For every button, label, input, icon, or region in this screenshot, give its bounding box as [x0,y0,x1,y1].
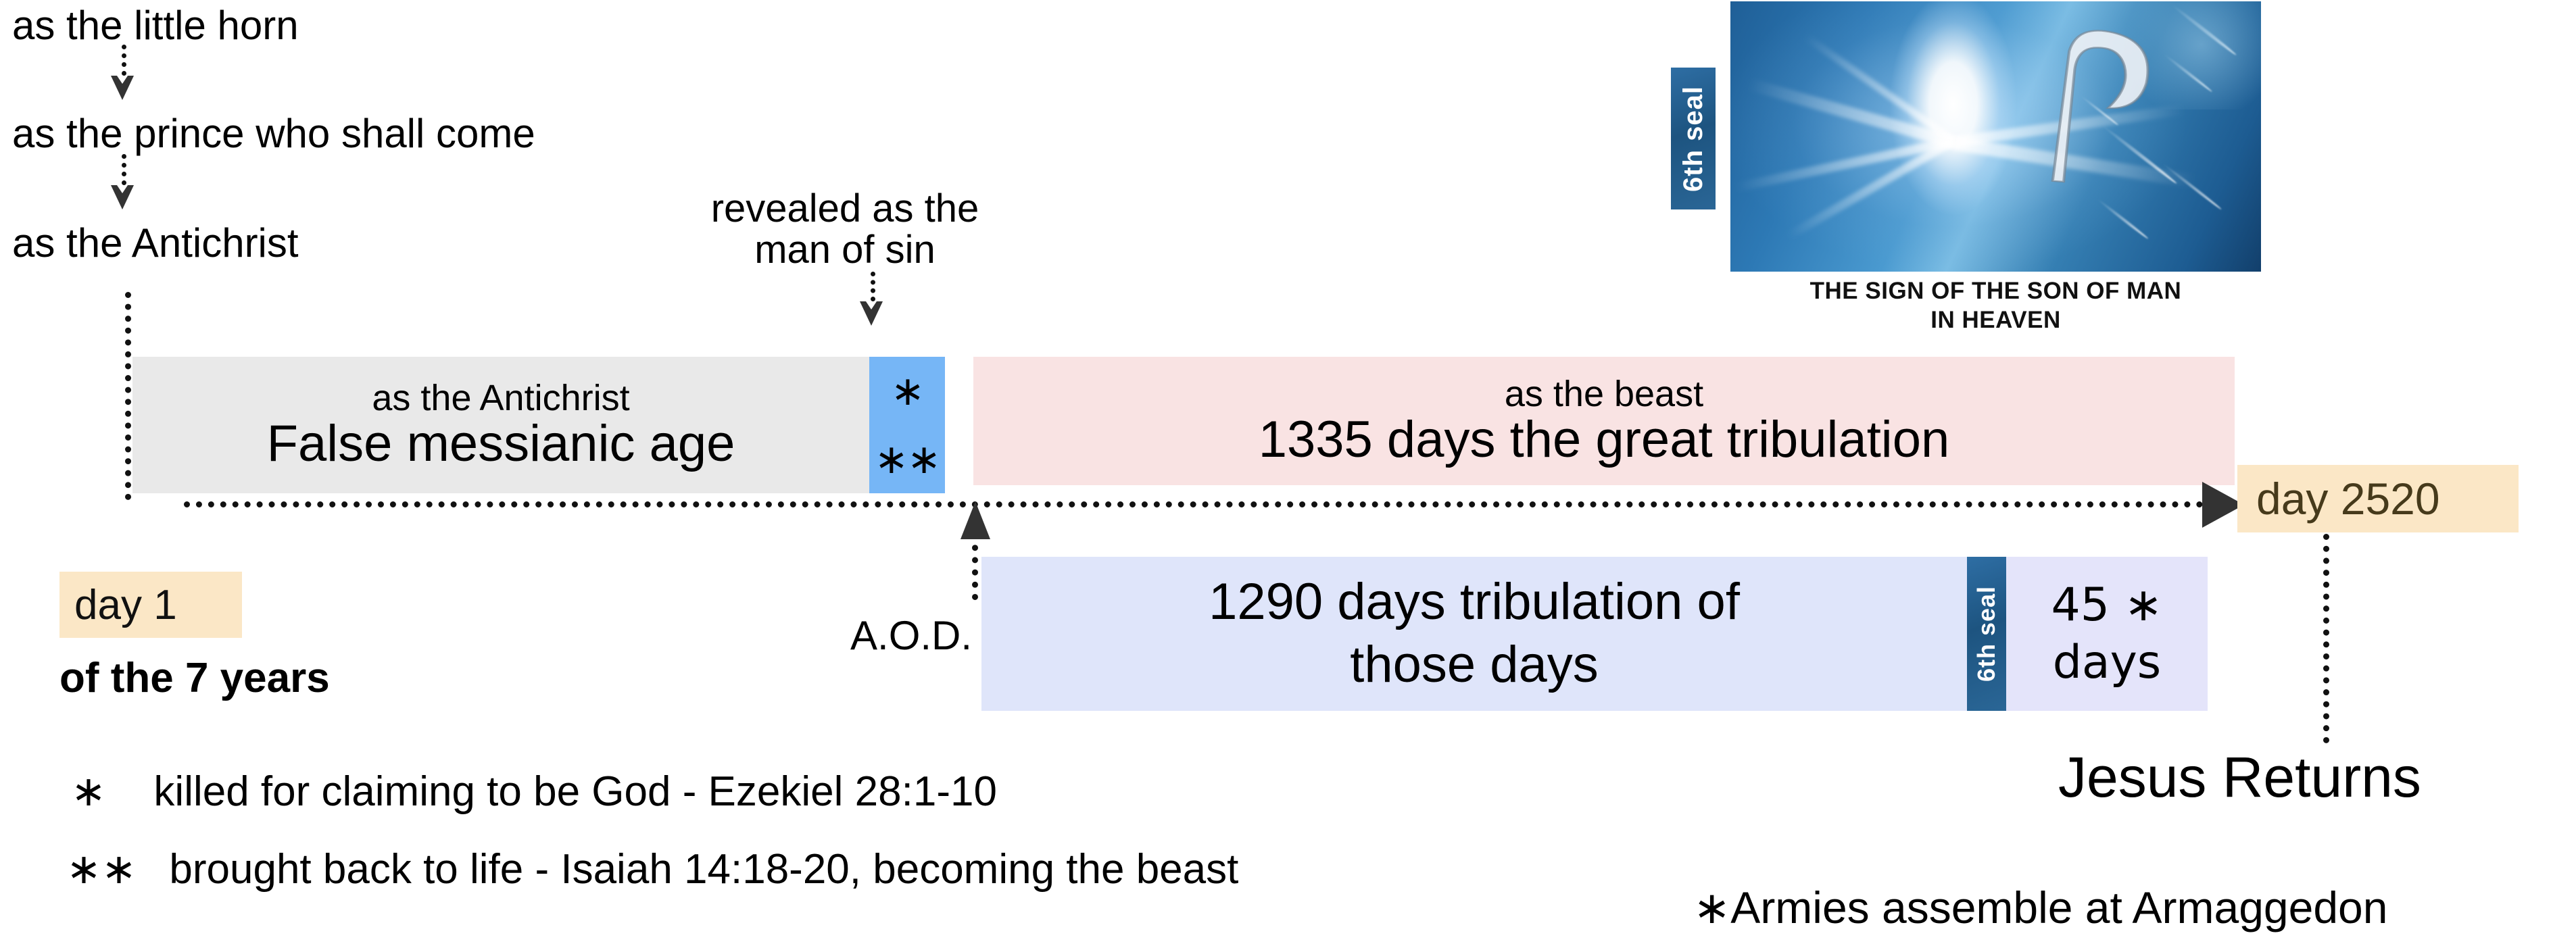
sickle-shape-icon [2028,18,2166,185]
sixth-seal-image-block: 6th seal THE SIGN OF THE SON OF MAN IN H… [1730,1,2261,272]
revealed-connector-dots [871,272,875,301]
light-rays-decoration [1730,1,2261,272]
sixth-seal-badge: 6th seal [1671,68,1716,209]
bar-1290-days-tribulation: 1290 days tribulation of those days [981,557,1967,711]
bar-false-messianic-age-sub: as the Antichrist [372,379,629,418]
chain-label-prince-who-shall-come: as the prince who shall come [12,114,535,154]
chain-arrow-down-icon-1 [111,76,134,100]
star-single-marker: ∗ [891,371,923,412]
bar-1290-line-2: those days [1350,634,1599,697]
bar-death-and-resurrection: ∗ ∗∗ [869,357,945,493]
footnote-row-2: ∗∗ brought back to life - Isaiah 14:18-2… [66,848,1238,891]
bar-false-messianic-age: as the Antichrist False messianic age [132,357,869,493]
aod-arrow-up-icon [961,501,990,539]
revealed-line-1: revealed as the [649,188,1041,229]
day-2520-chip: day 2520 [2237,465,2519,532]
sign-of-son-of-man-image [1730,1,2261,272]
hero-caption-line-2: IN HEAVEN [1730,306,2261,335]
start-vertical-rule [125,292,131,500]
bar-false-messianic-age-title: False messianic age [267,417,735,471]
bar-45-days-line-1: 45 ∗ [2051,576,2162,634]
bar-45-days-line-2: days [2053,634,2162,691]
armageddon-note: ∗Armies assemble at Armaggedon [1693,885,2387,930]
day-1-label: day 1 [74,581,177,629]
bar-great-tribulation: as the beast 1335 days the great tribula… [973,357,2235,485]
of-the-7-years-label: of the 7 years [59,654,330,702]
hero-caption: THE SIGN OF THE SON OF MAN IN HEAVEN [1730,277,2261,334]
hero-caption-line-1: THE SIGN OF THE SON OF MAN [1730,277,2261,306]
bar-1290-line-1: 1290 days tribulation of [1209,571,1740,634]
footnote-2-marker: ∗∗ [66,844,137,893]
bar-great-tribulation-title: 1335 days the great tribulation [1259,413,1949,467]
footnote-row-1: ∗ killed for claiming to be God - Ezekie… [71,770,997,813]
day-2520-label: day 2520 [2256,473,2440,524]
revealed-line-2: man of sin [649,229,1041,270]
main-timeline-axis [184,501,2204,507]
day-1-chip: day 1 [59,572,242,638]
sixth-seal-marker-in-bar: 6th seal [1967,557,2006,711]
star-double-marker: ∗∗ [875,439,940,480]
revealed-arrow-down-icon [860,301,883,326]
chain-label-little-horn: as the little horn [12,5,299,46]
footnote-2-text: brought back to life - Isaiah 14:18-20, … [169,846,1238,893]
bar-great-tribulation-sub: as the beast [1505,375,1703,414]
chain-arrow-down-icon-2 [111,185,134,209]
chain-connector-dots-2 [122,154,126,185]
sixth-seal-marker-label: 6th seal [1972,586,2001,682]
footnote-1-text: killed for claiming to be God - Ezekiel … [153,768,997,815]
jesus-returns-label: Jesus Returns [2058,749,2421,805]
footnote-1-marker: ∗ [71,766,106,816]
bar-45-days: 45 ∗ days [2006,557,2208,711]
end-vertical-rule [2323,534,2329,743]
chain-connector-dots-1 [122,45,126,76]
sixth-seal-badge-label: 6th seal [1678,86,1709,192]
revealed-as-man-of-sin-annotation: revealed as the man of sin [649,188,1041,271]
chain-label-antichrist: as the Antichrist [12,223,299,264]
prophecy-timeline-diagram: as the little horn as the prince who sha… [0,0,2576,946]
aod-vertical-rule [972,532,978,600]
